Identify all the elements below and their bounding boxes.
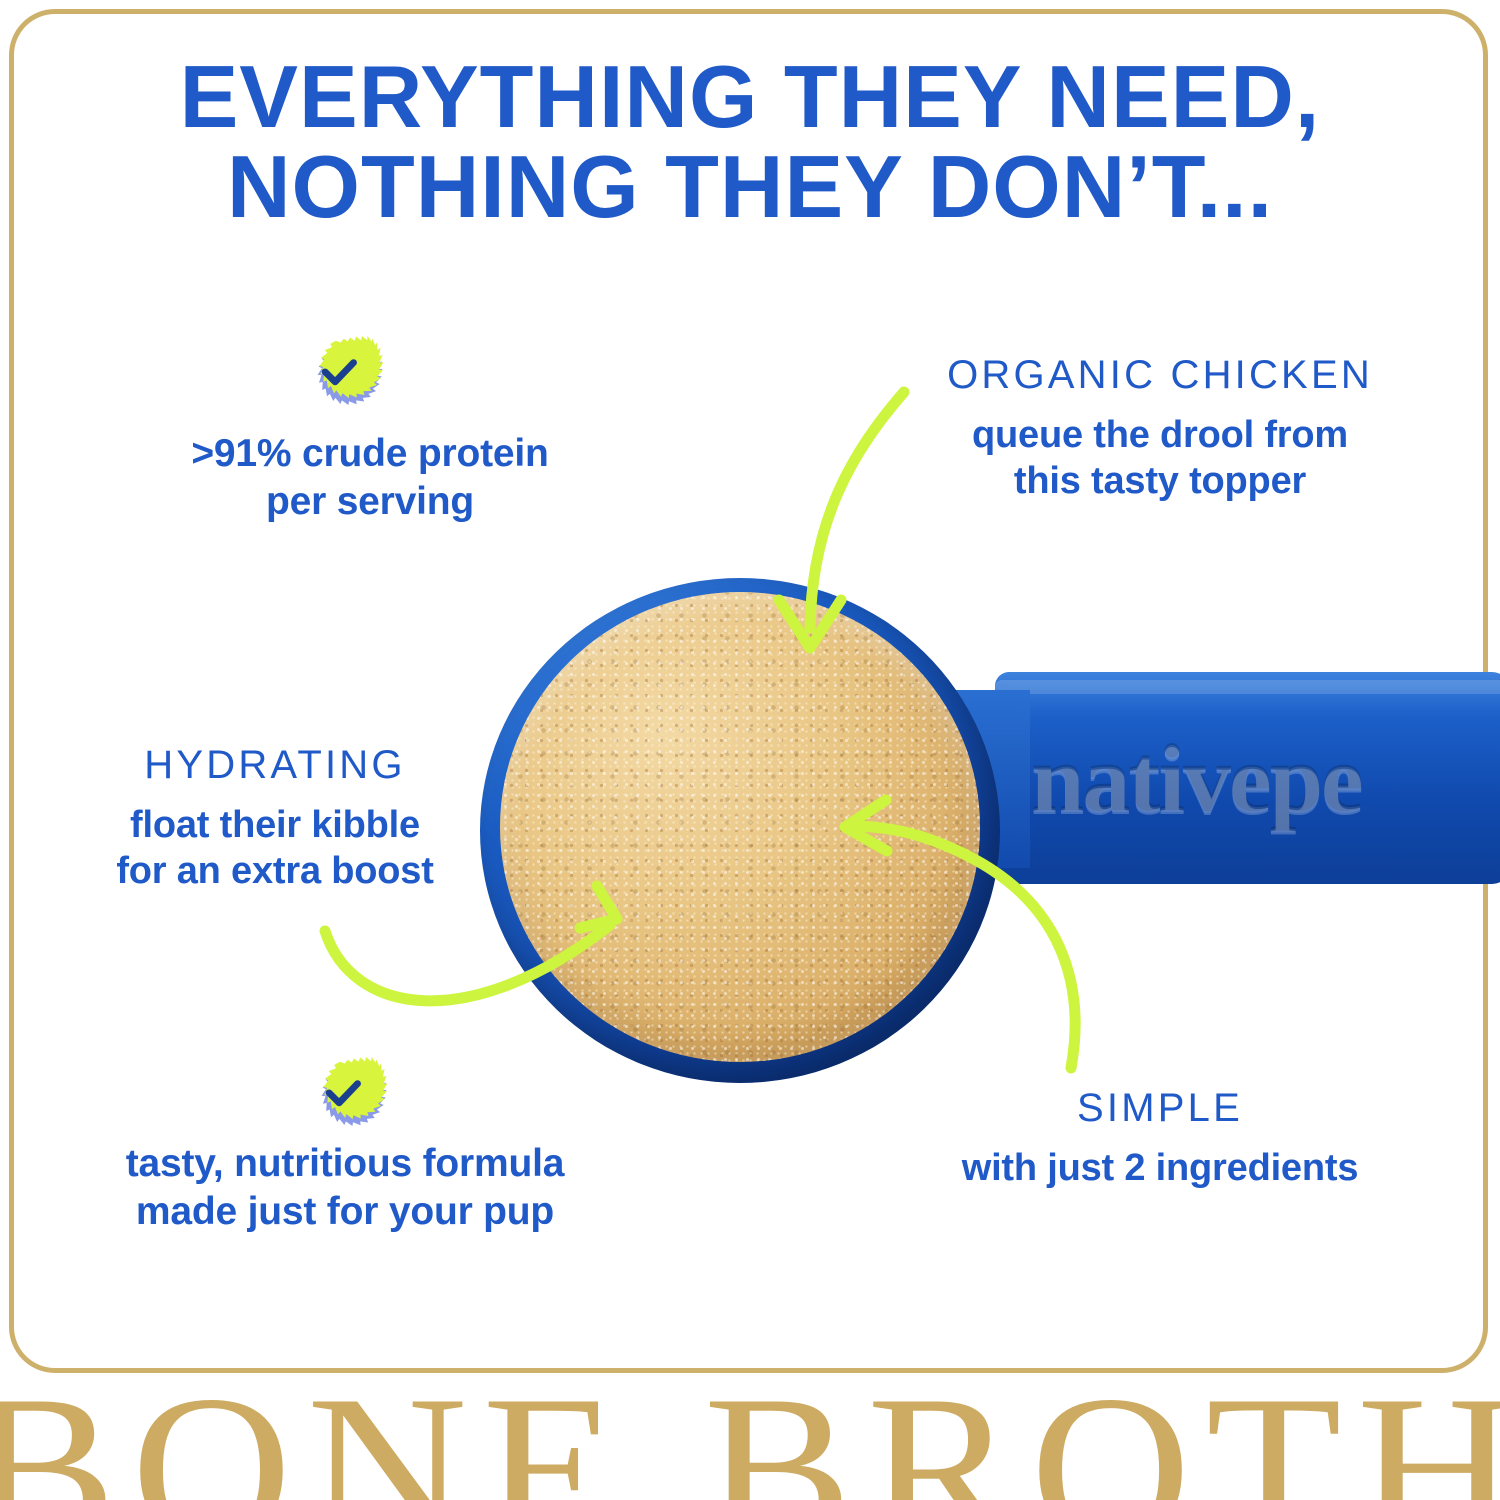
bone-broth-powder	[500, 592, 980, 1062]
callout-organic-chicken-heading: ORGANIC CHICKEN	[910, 352, 1410, 398]
callout-hydrating-body: float their kibble for an extra boost	[50, 802, 500, 895]
callout-organic-chicken-line-1: queue the drool from	[910, 412, 1410, 458]
callout-protein-body: >91% crude protein per serving	[120, 430, 620, 525]
callout-simple: SIMPLE with just 2 ingredients	[940, 1085, 1380, 1191]
brand-emboss-label: nativepe	[1031, 724, 1500, 835]
callout-hydrating-heading: HYDRATING	[50, 742, 500, 788]
product-wordmark: BONE BROTH	[0, 1364, 1500, 1500]
callout-simple-line-1: with just 2 ingredients	[940, 1145, 1380, 1191]
check-badge-icon	[303, 1055, 387, 1139]
callout-organic-chicken-line-2: this tasty topper	[910, 458, 1410, 504]
check-badge-icon	[299, 334, 383, 418]
callout-tasty-formula: tasty, nutritious formula made just for …	[100, 1140, 590, 1235]
scoop-handle: nativepe	[995, 672, 1500, 884]
callout-hydrating-line-2: for an extra boost	[50, 848, 500, 894]
headline-line-2: NOTHING THEY DON’T...	[0, 142, 1500, 232]
callout-tasty-formula-line-1: tasty, nutritious formula	[100, 1140, 590, 1188]
callout-hydrating: HYDRATING float their kibble for an extr…	[50, 742, 500, 895]
product-photo-scoop: nativepe	[440, 500, 1500, 1110]
callout-protein-line-1: >91% crude protein	[120, 430, 620, 478]
callout-hydrating-line-1: float their kibble	[50, 802, 500, 848]
callout-tasty-formula-line-2: made just for your pup	[100, 1188, 590, 1236]
callout-organic-chicken: ORGANIC CHICKEN queue the drool from thi…	[910, 352, 1410, 505]
callout-simple-heading: SIMPLE	[940, 1085, 1380, 1131]
callout-protein: >91% crude protein per serving	[120, 430, 620, 525]
page-title: EVERYTHING THEY NEED, NOTHING THEY DON’T…	[0, 52, 1500, 232]
callout-simple-body: with just 2 ingredients	[940, 1145, 1380, 1191]
headline-line-1: EVERYTHING THEY NEED,	[0, 52, 1500, 142]
infographic-canvas: EVERYTHING THEY NEED, NOTHING THEY DON’T…	[0, 0, 1500, 1500]
callout-organic-chicken-body: queue the drool from this tasty topper	[910, 412, 1410, 505]
callout-protein-line-2: per serving	[120, 478, 620, 526]
powder-grain-texture	[500, 592, 980, 1062]
callout-tasty-formula-body: tasty, nutritious formula made just for …	[100, 1140, 590, 1235]
